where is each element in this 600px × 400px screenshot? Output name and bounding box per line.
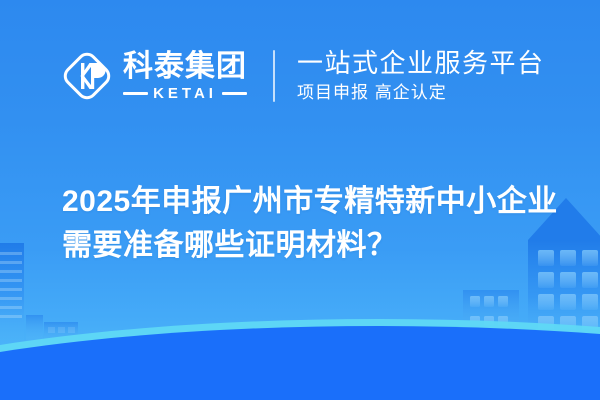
rule-right-icon (222, 92, 247, 95)
vertical-divider-icon (273, 50, 275, 102)
brand-name-cn: 科泰集团 (123, 51, 247, 82)
brand-latin-row: KETAI (123, 86, 247, 101)
tagline-main: 一站式企业服务平台 (297, 48, 545, 78)
building-left-tower (0, 243, 24, 340)
banner-header: 科泰集团 KETAI 一站式企业服务平台 项目申报 高企认定 (0, 36, 600, 116)
banner-headline: 2025年申报广州市专精特新中小企业需要准备哪些证明材料？ (62, 180, 574, 269)
brand-lockup: 科泰集团 KETAI (62, 49, 247, 103)
promo-banner: 科泰集团 KETAI 一站式企业服务平台 项目申报 高企认定 2025年申报广州… (0, 0, 600, 400)
rule-left-icon (123, 92, 148, 95)
tagline-block: 一站式企业服务平台 项目申报 高企认定 (297, 48, 545, 103)
brand-name-latin: KETAI (153, 86, 217, 101)
brand-wordmark: 科泰集团 KETAI (123, 51, 247, 100)
ketai-logo-icon (62, 49, 114, 103)
tagline-sub: 项目申报 高企认定 (297, 82, 545, 104)
